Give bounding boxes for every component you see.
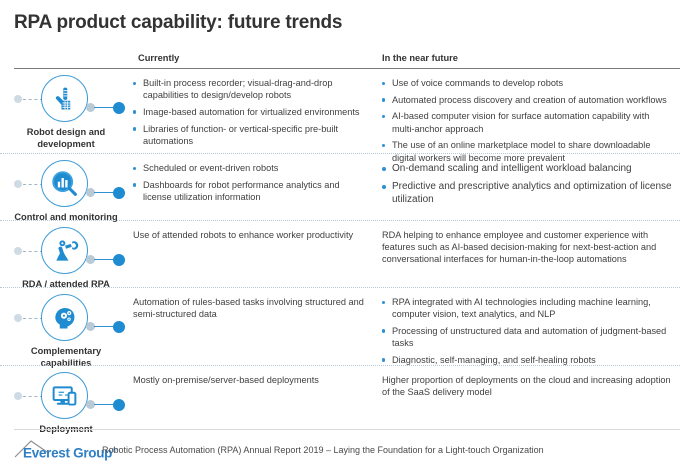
footer-rule — [14, 429, 680, 430]
footer-source: Robotic Process Automation (RPA) Annual … — [102, 445, 544, 455]
currently-cell: Mostly on-premise/server-based deploymen… — [133, 366, 381, 386]
connector-dot-end — [113, 321, 125, 333]
connector-dashed-line — [23, 99, 43, 100]
robot-hand-icon — [41, 75, 88, 122]
connector-dot-left — [14, 95, 22, 103]
connector-dot-end — [113, 254, 125, 266]
bullet-item: Image-based automation for virtualized e… — [133, 106, 365, 118]
icon-badge-group — [0, 158, 132, 210]
sidebar-cell-4[interactable]: Deployment — [0, 366, 132, 427]
cell-paragraph: Automation of rules-based tasks involvin… — [133, 296, 365, 320]
sidebar-cell-3[interactable]: Complementary capabilities — [0, 288, 132, 365]
icon-badge-group — [0, 73, 132, 125]
connector-dot-left — [14, 180, 22, 188]
column-header-currently: Currently — [138, 53, 179, 63]
connector-dashed-line — [23, 318, 43, 319]
bullet-item: On-demand scaling and intelligent worklo… — [382, 162, 672, 175]
sidebar-inner: Robot design and development — [0, 69, 132, 150]
logo-wordmark-text: Everest Group — [23, 445, 112, 460]
bullet-list: RPA integrated with AI technologies incl… — [382, 296, 672, 366]
connector-dot-end — [113, 102, 125, 114]
bullet-item: AI-based computer vision for surface aut… — [382, 110, 672, 134]
cell-paragraph: Mostly on-premise/server-based deploymen… — [133, 374, 365, 386]
column-header-near-future: In the near future — [382, 53, 458, 63]
sidebar-cell-2[interactable]: RDA / attended RPA — [0, 221, 132, 287]
cell-paragraph: Use of attended robots to enhance worker… — [133, 229, 365, 241]
icon-badge-group — [0, 225, 132, 277]
slide-root: RPA product capability: future trends Cu… — [0, 0, 680, 471]
bullet-item: Libraries of function- or vertical-speci… — [133, 123, 365, 147]
bullet-list: Built-in process recorder; visual-drag-a… — [133, 77, 365, 147]
currently-cell: Built-in process recorder; visual-drag-a… — [133, 69, 381, 152]
page-title: RPA product capability: future trends — [14, 12, 342, 34]
sidebar-cell-1[interactable]: Control and monitoring — [0, 154, 132, 220]
bullet-list: On-demand scaling and intelligent worklo… — [382, 162, 672, 206]
bullet-item: Predictive and prescriptive analytics an… — [382, 180, 672, 206]
connector-dashed-line — [23, 251, 43, 252]
bullet-item: Scheduled or event-driven robots — [133, 162, 365, 174]
robot-arm-icon — [41, 227, 88, 274]
sidebar-inner: Control and monitoring — [0, 154, 132, 224]
bullet-item: Processing of unstructured data and auto… — [382, 325, 672, 349]
bullet-item: Built-in process recorder; visual-drag-a… — [133, 77, 365, 101]
connector-dot-left — [14, 247, 22, 255]
sidebar-inner: Deployment — [0, 366, 132, 436]
currently-cell: Scheduled or event-driven robotsDashboar… — [133, 154, 381, 208]
monitor-mobile-icon — [41, 372, 88, 419]
currently-cell: Automation of rules-based tasks involvin… — [133, 288, 381, 320]
head-gears-icon — [41, 294, 88, 341]
icon-badge-group — [0, 370, 132, 422]
capability-row: Complementary capabilitiesAutomation of … — [0, 287, 680, 365]
near_future-cell: Higher proportion of deployments on the … — [382, 366, 680, 398]
near_future-cell: RPA integrated with AI technologies incl… — [382, 288, 680, 371]
sidebar-inner: RDA / attended RPA — [0, 221, 132, 291]
cell-paragraph: RDA helping to enhance employee and cust… — [382, 229, 672, 266]
sidebar-inner: Complementary capabilities — [0, 288, 132, 369]
near_future-cell: RDA helping to enhance employee and cust… — [382, 221, 680, 266]
sidebar-item-label: Robot design and development — [0, 125, 132, 150]
connector-dot-end — [113, 187, 125, 199]
chart-magnifier-icon — [41, 160, 88, 207]
capability-row: Control and monitoringScheduled or event… — [0, 153, 680, 220]
bullet-item: Automated process discovery and creation… — [382, 94, 672, 106]
bullet-item: RPA integrated with AI technologies incl… — [382, 296, 672, 320]
footer: Everest Group® Robotic Process Automatio… — [0, 429, 680, 471]
bullet-item: Use of voice commands to develop robots — [382, 77, 672, 89]
connector-dot-end — [113, 399, 125, 411]
icon-badge-group — [0, 292, 132, 344]
connector-dashed-line — [23, 396, 43, 397]
currently-cell: Use of attended robots to enhance worker… — [133, 221, 381, 241]
capability-row: RDA / attended RPAUse of attended robots… — [0, 220, 680, 287]
everest-group-logo: Everest Group® — [14, 439, 116, 458]
cell-paragraph: Higher proportion of deployments on the … — [382, 374, 672, 398]
capability-row: Robot design and developmentBuilt-in pro… — [0, 69, 680, 153]
capability-row: DeploymentMostly on-premise/server-based… — [0, 365, 680, 427]
bullet-list: Scheduled or event-driven robotsDashboar… — [133, 162, 365, 203]
connector-dot-left — [14, 314, 22, 322]
near_future-cell: On-demand scaling and intelligent worklo… — [382, 154, 680, 211]
connector-dot-left — [14, 392, 22, 400]
rows-container: Robot design and developmentBuilt-in pro… — [0, 69, 680, 427]
connector-dashed-line — [23, 184, 43, 185]
bullet-list: Use of voice commands to develop robotsA… — [382, 77, 672, 164]
sidebar-cell-0[interactable]: Robot design and development — [0, 69, 132, 153]
bullet-item: Dashboards for robot performance analyti… — [133, 179, 365, 203]
